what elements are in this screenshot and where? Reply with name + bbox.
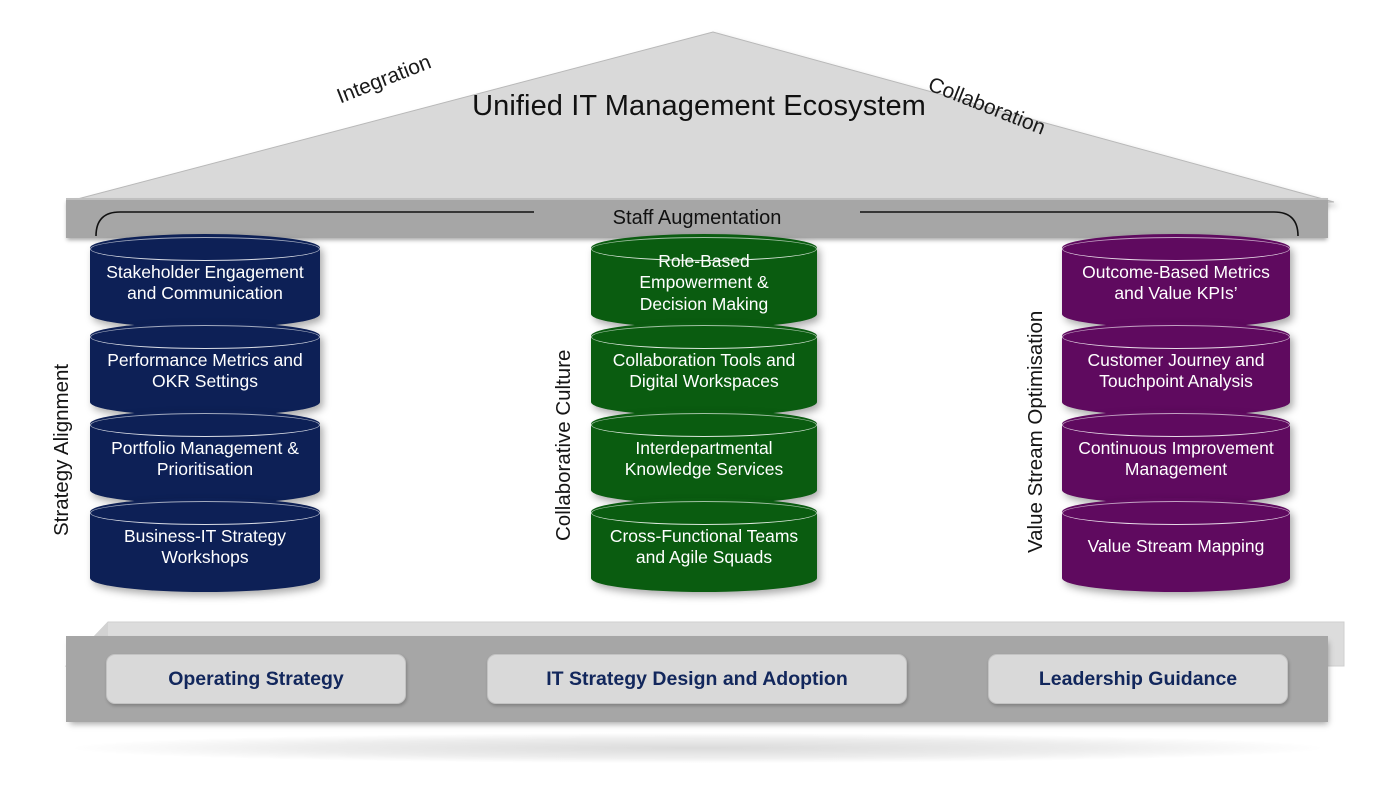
pillar-block[interactable]: Cross-Functional Teams and Agile Squads [591, 498, 817, 592]
pillar-block[interactable]: Portfolio Management & Prioritisation [90, 410, 320, 504]
pillar-block[interactable]: Business-IT Strategy Workshops [90, 498, 320, 592]
pillar-block-label: Cross-Functional Teams and Agile Squads [603, 526, 805, 569]
foundation-box-leadership-guidance[interactable]: Leadership Guidance [988, 654, 1288, 704]
cylinder-top-ellipse [90, 237, 320, 261]
pillar-block[interactable]: Stakeholder Engagement and Communication [90, 234, 320, 328]
pillar-block-label: Portfolio Management & Prioritisation [102, 438, 308, 481]
cylinder-top-ellipse [90, 325, 320, 349]
cylinder-top-ellipse [591, 413, 817, 437]
diagram-canvas: Unified IT Management Ecosystem Integrat… [0, 0, 1398, 787]
pillar-block-label: Business-IT Strategy Workshops [102, 526, 308, 569]
cylinder-top-ellipse [90, 501, 320, 525]
ground-shadow [75, 733, 1320, 763]
pillar-block[interactable]: Interdepartmental Knowledge Services [591, 410, 817, 504]
cylinder-top-ellipse [1062, 413, 1290, 437]
pillar-block[interactable]: Role-Based Empowerment & Decision Making [591, 234, 817, 328]
pillar-block-label: Collaboration Tools and Digital Workspac… [603, 350, 805, 393]
pillar-block-label: Value Stream Mapping [1084, 536, 1269, 557]
pillar-collaborative-culture: Role-Based Empowerment & Decision Making… [591, 234, 817, 592]
lintel-label: Staff Augmentation [66, 198, 1328, 238]
pillar-block[interactable]: Outcome-Based Metrics and Value KPIs’ [1062, 234, 1290, 328]
pillar-block[interactable]: Value Stream Mapping [1062, 498, 1290, 592]
cylinder-top-ellipse [591, 501, 817, 525]
foundation-box-operating-strategy[interactable]: Operating Strategy [106, 654, 406, 704]
pillar-block-label: Continuous Improvement Management [1074, 438, 1278, 481]
pillar-label-strategy-alignment: Strategy Alignment [50, 364, 74, 536]
lintel-band: Staff Augmentation [66, 198, 1328, 238]
pillar-label-value-stream-optimisation: Value Stream Optimisation [1024, 311, 1048, 553]
cylinder-top-ellipse [1062, 325, 1290, 349]
base-plinth: Operating Strategy IT Strategy Design an… [66, 636, 1328, 722]
pillar-block-label: Interdepartmental Knowledge Services [603, 438, 805, 481]
diagram-title: Unified IT Management Ecosystem [449, 88, 949, 125]
pillar-block-label: Outcome-Based Metrics and Value KPIs’ [1074, 262, 1278, 305]
pillar-block-label: Performance Metrics and OKR Settings [102, 350, 308, 393]
pillar-block-label: Customer Journey and Touchpoint Analysis [1074, 350, 1278, 393]
pillar-block[interactable]: Customer Journey and Touchpoint Analysis [1062, 322, 1290, 416]
pillar-block[interactable]: Continuous Improvement Management [1062, 410, 1290, 504]
foundation-box-it-strategy-design[interactable]: IT Strategy Design and Adoption [487, 654, 907, 704]
pillar-strategy-alignment: Stakeholder Engagement and Communication… [90, 234, 320, 592]
cylinder-top-ellipse [90, 413, 320, 437]
pillar-block-label: Role-Based Empowerment & Decision Making [603, 251, 805, 315]
cylinder-top-ellipse [591, 325, 817, 349]
pillar-value-stream-optimisation: Outcome-Based Metrics and Value KPIs’ Cu… [1062, 234, 1290, 592]
cylinder-top-ellipse [1062, 237, 1290, 261]
pillar-block-label: Stakeholder Engagement and Communication [102, 262, 308, 305]
pillar-block[interactable]: Collaboration Tools and Digital Workspac… [591, 322, 817, 416]
cylinder-top-ellipse [1062, 501, 1290, 525]
pillar-block[interactable]: Performance Metrics and OKR Settings [90, 322, 320, 416]
pillar-label-collaborative-culture: Collaborative Culture [552, 350, 576, 541]
